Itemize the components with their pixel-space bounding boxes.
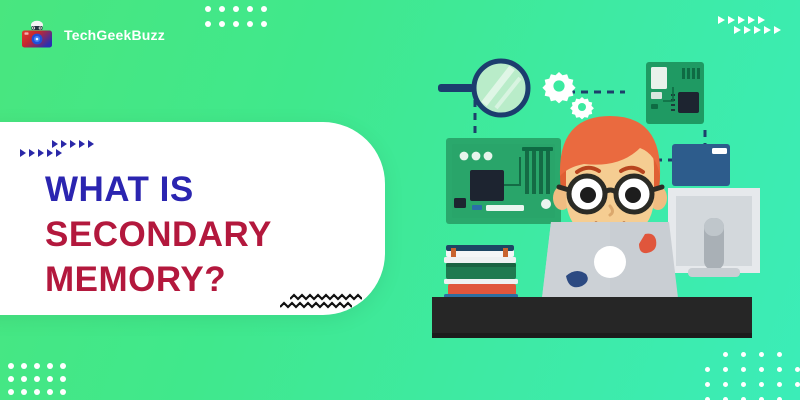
brand-name-label: TechGeekBuzz — [64, 27, 165, 43]
desk-edge — [432, 333, 752, 338]
magnifier-icon — [438, 61, 528, 115]
hero-illustration — [420, 0, 800, 400]
laptop-logo — [594, 246, 626, 278]
zigzag-line-icon — [280, 301, 352, 310]
circuit-board-left-icon — [446, 138, 561, 224]
desk — [432, 297, 752, 333]
triangle-arrow-row-icon — [718, 16, 765, 24]
monitor — [668, 188, 760, 277]
triangle-arrow-row-icon — [734, 26, 781, 34]
triangle-arrow-row-icon — [20, 149, 62, 157]
dot-grid-icon — [705, 352, 800, 400]
books-stack — [444, 245, 518, 305]
laptop — [542, 222, 678, 298]
dot-grid-icon — [8, 363, 73, 400]
page-title: WHAT IS SECONDARY MEMORY? — [45, 168, 272, 302]
dot-grid-icon — [205, 6, 275, 36]
camera-logo-icon — [20, 20, 54, 50]
folder-icon — [672, 144, 730, 186]
circuit-board-top-right-icon — [646, 62, 704, 124]
triangle-arrow-row-icon — [52, 140, 94, 148]
headline-line-2: SECONDARY — [45, 213, 272, 258]
banner-canvas: TechGeekBuzz W — [0, 0, 800, 400]
headline-line-1: WHAT IS — [45, 168, 272, 213]
brand-logo-group[interactable]: TechGeekBuzz — [20, 20, 165, 50]
gears-icon — [542, 72, 594, 119]
headline-line-3: MEMORY? — [45, 258, 272, 303]
